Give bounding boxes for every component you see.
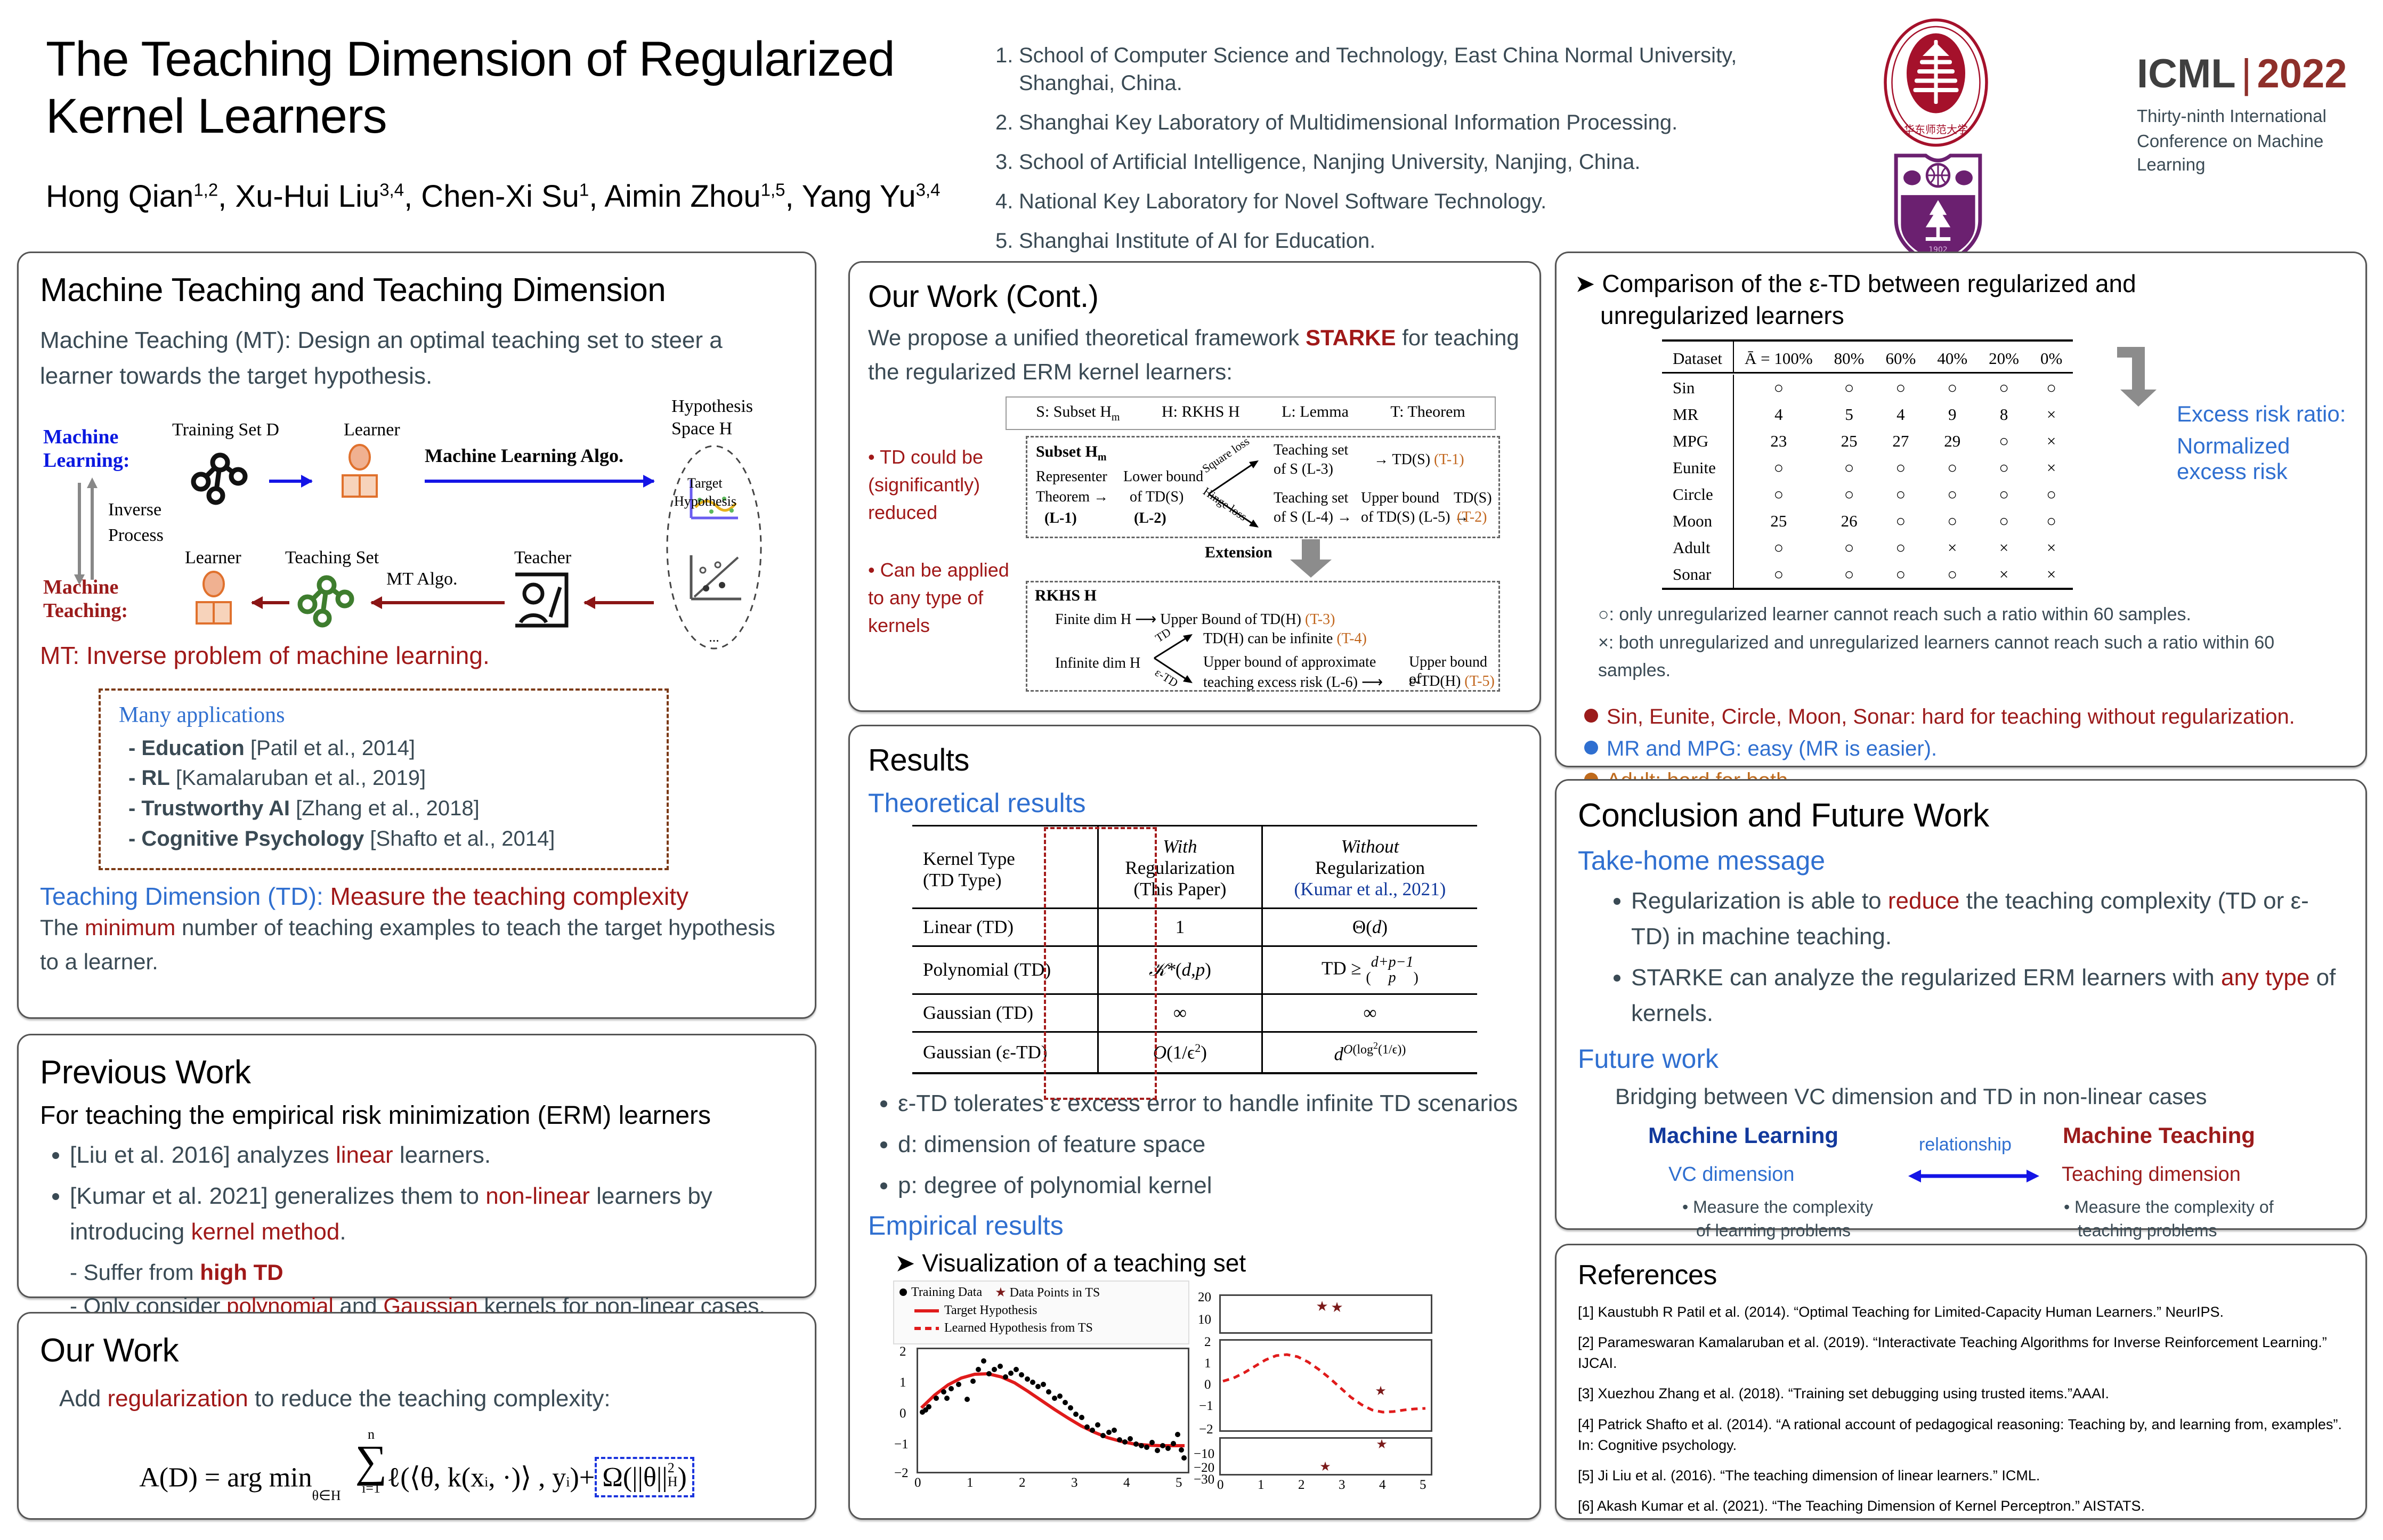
cmp-cell: ○	[1823, 455, 1875, 481]
mid-ytick-0: 0	[1204, 1377, 1211, 1392]
top-ytick-10: 10	[1198, 1312, 1211, 1327]
solid-line-marker-icon	[914, 1309, 939, 1312]
cmp-dataset: Sin	[1662, 375, 1733, 401]
affiliation-item: 4. National Key Laboratory for Novel Sof…	[995, 188, 1827, 215]
td-without: dO(log2(1/ϵ))	[1262, 1032, 1477, 1073]
teaching-set-graph-icon	[296, 571, 365, 630]
cmp-cell: 5	[1823, 401, 1875, 428]
affiliation-number: 3.	[995, 148, 1019, 176]
pw-b2a: [Kumar et al. 2021] generalizes them to	[70, 1183, 485, 1209]
td-label: Teaching Dimension (TD):	[40, 882, 323, 910]
rel-vc-dimension: VC dimension	[1668, 1163, 1795, 1186]
theoretical-results-heading: Theoretical results	[868, 788, 1521, 818]
cmp-cell: 8	[1978, 401, 2030, 428]
excess-risk-callout-l1: Excess risk ratio:	[2177, 401, 2346, 427]
cmp-cell: ○	[1733, 455, 1823, 481]
application-item: - RL [Kamalaruban et al., 2019]	[119, 763, 649, 793]
th0-reduce: reduce	[1888, 888, 1960, 914]
formula-reg-sup: 2	[668, 1461, 678, 1475]
affiliation-item: 3. School of Artificial Intelligence, Na…	[995, 148, 1827, 176]
th-kernel-type: Kernel Type (TD Type)	[912, 826, 1098, 909]
chart-main-plot	[917, 1348, 1189, 1473]
td-with: O(1/ϵ2)	[1098, 1032, 1262, 1073]
cmp-th-20: 20%	[1978, 341, 2030, 373]
cmp-cell: ○	[1875, 481, 1927, 508]
application-item: - Cognitive Psychology [Shafto et al., 2…	[119, 824, 649, 854]
cmp-cell: ×	[2030, 561, 2073, 589]
chart-top-strip: ★ ★	[1219, 1294, 1432, 1334]
circle-marker-icon	[899, 1288, 907, 1296]
application-name: - Trustworthy AI	[128, 797, 290, 820]
main-ytick-0: 0	[899, 1406, 906, 1421]
east-china-normal-university-seal-icon: 华东师范大学	[1869, 16, 2003, 149]
takehome-bullet: STARKE can analyze the regularized ERM l…	[1631, 960, 2344, 1032]
formula-loss-a: ℓ(⟨θ, k(x	[387, 1462, 484, 1493]
cmp-th-0: 0%	[2030, 341, 2073, 373]
cmp-cell: ○	[1875, 561, 1927, 589]
diagram-ml-label-1: Machine	[43, 425, 118, 449]
th-with-l3: (This Paper)	[1109, 879, 1251, 900]
th1-anytype: any type	[2221, 964, 2309, 991]
mid-ytick-1: 1	[1204, 1356, 1211, 1371]
bot-xtick-3: 3	[1339, 1478, 1345, 1493]
main-ytick-2: 2	[899, 1344, 906, 1359]
bot-xtick-5: 5	[1420, 1478, 1426, 1493]
rel-td-note-1: • Measure the complexity of	[2064, 1197, 2274, 1217]
owc-lead-a: We propose a unified theoretical framewo…	[868, 325, 1306, 350]
svg-text:...: ...	[709, 629, 719, 645]
cmp-cell: ○	[1733, 534, 1823, 561]
starke-lowerbound-3: (L-2)	[1134, 510, 1166, 527]
main-xtick-1: 1	[967, 1476, 974, 1490]
affiliation-text: Shanghai Institute of AI for Education.	[1019, 227, 1827, 255]
bottom-strip-svg: ★ ★	[1221, 1439, 1431, 1474]
main-ytick-m2: −2	[894, 1466, 909, 1481]
diagram-hypothesis-space-1: Hypothesis	[671, 396, 753, 417]
legend-row-3: Learned Hypothesis from TS	[899, 1321, 1183, 1335]
cmp-cell: ○	[1733, 561, 1823, 589]
reference-item: [3] Xuezhou Zhang et al. (2018). “Traini…	[1578, 1383, 2344, 1404]
main-xtick-0: 0	[914, 1476, 921, 1490]
main-ytick-1: 1	[899, 1375, 906, 1390]
chart-middle-strip: ★	[1219, 1339, 1432, 1432]
cmp-cell: ○	[1978, 428, 2030, 455]
comparison-note-cross: ×: both unregularized and unregularized …	[1575, 629, 2347, 685]
legend-s: S: Subset Hm	[1036, 403, 1120, 424]
affiliation-text: School of Artificial Intelligence, Nanji…	[1019, 148, 1827, 176]
middle-strip-svg: ★	[1221, 1341, 1431, 1430]
formula-reg-sub: H	[668, 1475, 678, 1489]
formula-plus: )+	[570, 1462, 595, 1493]
cmp-cell: ×	[2030, 401, 2073, 428]
starke-lowerbound-2: of TD(S)	[1130, 489, 1184, 506]
formula-reg: Ω(||θ||	[602, 1462, 668, 1493]
pw-b2e: .	[339, 1219, 346, 1245]
pw-s1-hightd: high TD	[200, 1260, 283, 1285]
th-with-l1: With	[1109, 836, 1251, 857]
bot-xtick-4: 4	[1379, 1478, 1386, 1493]
affiliation-list: 1. School of Computer Science and Techno…	[995, 42, 1827, 266]
application-ref: [Kamalaruban et al., 2019]	[170, 766, 426, 790]
rel-teaching-dimension: Teaching dimension	[2062, 1163, 2241, 1186]
icml-title: ICML|2022	[2137, 51, 2377, 97]
star-marker-icon: ★	[1331, 1300, 1343, 1315]
cmp-cell: ○	[2030, 375, 2073, 401]
table-row: Polynomial (TD) 𝒦*(d,p) TD ≥ (d+p−1p)	[912, 946, 1477, 994]
panel-title-references: References	[1578, 1259, 2344, 1291]
our-work-formula: A(D) = arg minθ∈H n ∑ i=1 ℓ(⟨θ, k(xi, ·)…	[40, 1428, 793, 1504]
formula-reg-end: )	[677, 1462, 686, 1493]
star-marker-icon: ★	[1316, 1299, 1328, 1314]
th-with-l2: Regularization	[1109, 857, 1251, 879]
pw-b1c: learners.	[393, 1142, 491, 1168]
poster-header: The Teaching Dimension of Regularized Ke…	[0, 0, 2383, 250]
starke-ub-l5-2: of TD(S) (L-5) →	[1361, 509, 1469, 526]
th-kernel-type-l1: Kernel Type	[923, 848, 1087, 870]
bullet-dot-icon	[1584, 741, 1598, 755]
reference-item: [6] Akash Kumar et al. (2021). “The Teac…	[1578, 1496, 2344, 1517]
diagram-teacher-label: Teacher	[514, 548, 571, 568]
cmp-cell: ○	[1733, 375, 1823, 401]
pw-s1a: - Suffer from	[70, 1260, 200, 1285]
empirical-results-heading: Empirical results	[868, 1210, 1521, 1241]
extension-down-arrow-icon	[1289, 539, 1335, 579]
future-work-heading: Future work	[1578, 1043, 2344, 1074]
cmp-cell: ○	[1823, 561, 1875, 589]
starke-ts-l3-2: of S (L-3)	[1274, 461, 1333, 478]
diagram-mt-label-2: Teaching:	[43, 599, 128, 622]
starke-legend-box: S: Subset Hm H: RKHS H L: Lemma T: Theor…	[1006, 396, 1496, 430]
starke-infinite-dim: Infinite dim H	[1055, 655, 1140, 672]
td-measure: Measure the teaching complexity	[323, 882, 688, 910]
cmp-dataset: Eunite	[1662, 455, 1733, 481]
legend-l: L: Lemma	[1282, 403, 1349, 424]
cmp-cell: ○	[1823, 481, 1875, 508]
cmp-cell: ×	[2030, 428, 2073, 455]
cmp-dataset: MPG	[1662, 428, 1733, 455]
application-ref: [Patil et al., 2014]	[245, 736, 415, 760]
td-definition-text: The minimum number of teaching examples …	[40, 911, 793, 979]
legend-target-hypothesis: Target Hypothesis	[944, 1303, 1038, 1318]
starke-ub-l5-1: Upper bound	[1361, 490, 1439, 507]
panel-machine-teaching: Machine Teaching and Teaching Dimension …	[17, 252, 816, 1019]
diagram-hypothesis-space-2: Space H	[671, 419, 732, 439]
cmp-cell: ○	[1978, 375, 2030, 401]
legend-training-data: Training Data	[899, 1285, 982, 1300]
formula-regularizer-box: Ω(||θ||2H)	[595, 1457, 694, 1497]
panel-references: References [1] Kaustubh R Patil et al. (…	[1555, 1244, 2367, 1520]
machine-teaching-intro: Machine Teaching (MT): Design an optimal…	[40, 323, 793, 394]
takeaway-text: MR and MPG: easy (MR is easier).	[1607, 737, 1937, 760]
applications-title: Many applications	[119, 702, 649, 728]
results-note: ε-TD tolerates ε excess error to handle …	[898, 1086, 1521, 1122]
reference-item: [4] Patrick Shafto et al. (2014). “A rat…	[1578, 1414, 2344, 1456]
cmp-cell: ○	[1823, 534, 1875, 561]
ml-mt-diagram: Machine Learning: Machine Teaching: Trai…	[40, 400, 791, 634]
cmp-cell: ○	[2030, 508, 2073, 534]
formula-sum: ∑	[355, 1441, 387, 1482]
td-without: Θ(d)	[1262, 909, 1477, 946]
starke-finite-dim: Finite dim H ⟶ Upper Bound of TD(H) (T-3…	[1055, 610, 1335, 628]
starke-subset-box: Subset Hm Representer Theorem → (L-1) Lo…	[1026, 436, 1500, 538]
affiliation-number: 5.	[995, 227, 1019, 255]
affiliation-text: School of Computer Science and Technolog…	[1019, 42, 1827, 97]
main-xtick-2: 2	[1019, 1476, 1026, 1490]
chart-legend: Training Data ★Data Points in TS Target …	[893, 1280, 1189, 1344]
star-marker-icon: ★	[995, 1286, 1007, 1300]
th-kernel-type-l2: (TD Type)	[923, 870, 1087, 891]
td-kernel: Linear (TD)	[912, 909, 1098, 946]
diagram-inverse-1: Inverse	[108, 500, 161, 520]
starke-subset-header: Subset Hm	[1036, 443, 1107, 464]
panel-previous-work: Previous Work For teaching the empirical…	[17, 1034, 816, 1298]
inverse-process-arrows-icon	[74, 475, 111, 587]
panel-title-previous-work: Previous Work	[40, 1053, 793, 1091]
bot-ytick-m30: −30	[1194, 1472, 1214, 1487]
icml-branding: ICML|2022 Thirty-ninth International Con…	[2137, 51, 2377, 177]
bullet-dot-icon	[1584, 709, 1598, 723]
application-item: - Trustworthy AI [Zhang et al., 2018]	[119, 793, 649, 824]
cmp-cell: ○	[1978, 455, 2030, 481]
diagram-arrow-data-to-learner	[269, 480, 312, 483]
mid-ytick-2: 2	[1204, 1335, 1211, 1350]
cmp-cell: 23	[1733, 428, 1823, 455]
cmp-cell: 25	[1823, 428, 1875, 455]
reference-item: [2] Parameswaran Kamalaruban et al. (201…	[1578, 1332, 2344, 1374]
rel-vc-note-1: • Measure the complexity	[1682, 1197, 1873, 1217]
main-plot-svg	[918, 1349, 1188, 1472]
affiliation-number: 2.	[995, 109, 1019, 136]
rel-mt-title: Machine Teaching	[2063, 1123, 2255, 1148]
empirical-subheading: ➤ Visualization of a teaching set	[895, 1249, 1521, 1277]
cmp-cell: ○	[1926, 455, 1978, 481]
owc-bullet-1: • TD could be (significantly) reduced	[868, 443, 1023, 527]
cmp-th-40: 40%	[1926, 341, 1978, 373]
td-without: ∞	[1262, 994, 1477, 1032]
panel-title-our-work-cont: Our Work (Cont.)	[868, 279, 1521, 314]
icml-year: 2022	[2257, 51, 2347, 96]
chevron-right-icon: ➤	[1575, 270, 1595, 297]
cmp-cell: ○	[1823, 375, 1875, 401]
icml-subtitle-line2: Conference on Machine Learning	[2137, 129, 2377, 177]
panel-title-our-work: Our Work	[40, 1332, 793, 1369]
starke-td-t1: → TD(S) (T-1)	[1374, 451, 1464, 468]
cmp-cell: ×	[2030, 534, 2073, 561]
previous-work-bullet: [Liu et al. 2016] analyzes linear learne…	[70, 1138, 793, 1173]
starke-representer-2: Theorem →	[1036, 489, 1108, 506]
cmp-cell: 27	[1875, 428, 1927, 455]
diagram-learner-bottom-label: Learner	[185, 548, 241, 568]
bot-xtick-0: 0	[1217, 1478, 1224, 1493]
ow-lead-c: to reduce the teaching complexity:	[248, 1385, 611, 1412]
author-list: Hong Qian1,2, Xu-Hui Liu3,4, Chen-Xi Su1…	[46, 179, 1000, 214]
cmp-cell: ○	[1733, 481, 1823, 508]
mid-ytick-m2: −2	[1199, 1422, 1213, 1437]
star-marker-icon: ★	[1375, 1384, 1387, 1398]
application-ref: [Zhang et al., 2018]	[290, 797, 480, 820]
star-marker-icon: ★	[1376, 1439, 1388, 1452]
td-def-minimum: minimum	[85, 915, 175, 940]
starke-lowerbound-1: Lower bound	[1123, 468, 1203, 485]
comparison-heading-l1: Comparison of the ε-TD between regulariz…	[1602, 270, 2136, 297]
affiliation-number: 4.	[995, 188, 1019, 215]
th-without-l1: Without	[1274, 836, 1466, 857]
bot-xtick-2: 2	[1298, 1478, 1305, 1493]
cmp-cell: ○	[1875, 375, 1927, 401]
td-without: TD ≥ (d+p−1p)	[1262, 946, 1477, 994]
rel-td-note-2: teaching problems	[2078, 1221, 2217, 1241]
legend-learned-hypothesis: Learned Hypothesis from TS	[944, 1321, 1093, 1335]
diagram-arrow-ml-algo	[425, 480, 654, 483]
application-name: - RL	[128, 766, 170, 790]
learner-reading-icon	[333, 443, 386, 502]
vc-td-relationship-diagram: Machine Learning relationship Machine Te…	[1578, 1123, 2344, 1261]
starke-rkhs-box: RKHS H Finite dim H ⟶ Upper Bound of TD(…	[1026, 581, 1500, 692]
table-row: Gaussian (TD) ∞ ∞	[912, 994, 1477, 1032]
owc-starke: STARKE	[1306, 325, 1396, 350]
takeaway-item: Sin, Eunite, Circle, Moon, Sonar: hard f…	[1584, 701, 2347, 733]
cmp-cell: 4	[1875, 401, 1927, 428]
results-note: p: degree of polynomial kernel	[898, 1168, 1521, 1204]
bot-ytick-m10: −10	[1194, 1447, 1214, 1462]
ow-lead-regularization: regularization	[108, 1385, 248, 1412]
td-def-a: The	[40, 915, 85, 940]
cmp-cell: 25	[1733, 508, 1823, 534]
teacher-icon	[509, 566, 578, 630]
table-row: Eunite ○○○○○×	[1662, 455, 2073, 481]
starke-ub-risk-1: Upper bound of approximate	[1203, 654, 1376, 671]
th-without-l2: Regularization	[1274, 857, 1466, 879]
previous-work-bullet: [Kumar et al. 2021] generalizes them to …	[70, 1179, 793, 1250]
chart-bottom-strip: ★ ★	[1219, 1437, 1432, 1476]
theoretical-results-table: Kernel Type (TD Type) With Regularizatio…	[912, 825, 1477, 1074]
svg-text:华东师范大学: 华东师范大学	[1904, 123, 1968, 136]
comparison-table: Dataset Ā = 100% 80% 60% 40% 20% 0% Sin …	[1662, 339, 2073, 593]
rel-vc-note-2: of learning problems	[1696, 1221, 1851, 1241]
td-kernel: Polynomial (TD)	[912, 946, 1098, 994]
diagram-ml-label-2: Learning:	[43, 449, 130, 472]
diagram-mt-algo-label: MT Algo.	[386, 569, 458, 589]
previous-work-subitem: - Suffer from high TD	[40, 1255, 793, 1289]
cmp-dataset: MR	[1662, 401, 1733, 428]
cmp-dataset: Moon	[1662, 508, 1733, 534]
cmp-cell: ×	[1978, 534, 2030, 561]
reference-item: [5] Ji Liu et al. (2016). “The teaching …	[1578, 1465, 2344, 1486]
application-ref: [Shafto et al., 2014]	[364, 827, 555, 850]
table-row: MR 45498×	[1662, 401, 2073, 428]
starke-ub-risk-2: teaching excess risk (L-6) ⟶	[1203, 673, 1383, 691]
table-row: Adult ○○○×××	[1662, 534, 2073, 561]
results-note: d: dimension of feature space	[898, 1127, 1521, 1163]
diagram-arrow-hypothesis-to-teacher	[585, 601, 654, 604]
application-name: - Education	[128, 736, 245, 760]
icml-word: ICML	[2137, 51, 2236, 96]
diagram-arrow-mt-algo	[371, 601, 505, 604]
starke-td-infinite: TD(H) can be infinite (T-4)	[1203, 630, 1367, 647]
pw-b2-nonlinear: non-linear	[485, 1183, 590, 1209]
main-ytick-m1: −1	[894, 1437, 909, 1452]
affiliation-item: 2. Shanghai Key Laboratory of Multidimen…	[995, 109, 1827, 136]
cmp-cell: ○	[2030, 481, 2073, 508]
td-with: 𝒦*(d,p)	[1098, 946, 1262, 994]
application-name: - Cognitive Psychology	[128, 827, 364, 850]
td-with: 1	[1098, 909, 1262, 946]
panel-title-machine-teaching: Machine Teaching and Teaching Dimension	[40, 271, 793, 309]
our-work-cont-lead: We propose a unified theoretical framewo…	[868, 321, 1521, 389]
owc-bullet-1-text: TD could be (significantly) reduced	[868, 446, 983, 523]
cmp-cell: ○	[1926, 508, 1978, 534]
formula-argmin-sub: θ∈H	[263, 1488, 341, 1504]
table-row: Linear (TD) 1 Θ(d)	[912, 909, 1477, 946]
starke-representer-3: (L-1)	[1044, 510, 1077, 527]
pw-b2-kernel: kernel method	[191, 1219, 339, 1245]
starke-ts-l4-2: of S (L-4) →	[1274, 509, 1352, 526]
starke-representer-1: Representer	[1036, 468, 1107, 485]
table-row: Sonar ○○○○××	[1662, 561, 2073, 589]
bot-xtick-1: 1	[1258, 1478, 1265, 1493]
td-definition-heading: Teaching Dimension (TD): Measure the tea…	[40, 882, 793, 911]
table-row: Sin ○○○○○○	[1662, 375, 2073, 401]
our-work-lead: Add regularization to reduce the teachin…	[59, 1381, 793, 1417]
td-kernel: Gaussian (TD)	[912, 994, 1098, 1032]
affiliation-item: 1. School of Computer Science and Techno…	[995, 42, 1827, 97]
starke-extension-label: Extension	[1205, 544, 1272, 562]
icml-separator: |	[2236, 51, 2257, 96]
table-row: Gaussian (ε-TD) O(1/ϵ2) dO(log2(1/ϵ))	[912, 1032, 1477, 1073]
owc-bullet-2: • Can be applied to any type of kernels	[868, 556, 1023, 640]
callout-arrow-icon	[2116, 345, 2175, 409]
title-block: The Teaching Dimension of Regularized Ke…	[46, 31, 1000, 214]
panel-our-work: Our Work Add regularization to reduce th…	[17, 1312, 816, 1520]
training-set-graph-icon	[189, 449, 258, 507]
cmp-th-60: 60%	[1875, 341, 1927, 373]
table-header-row: Kernel Type (TD Type) With Regularizatio…	[912, 826, 1477, 909]
cmp-cell: ○	[1926, 375, 1978, 401]
legend-t: T: Theorem	[1390, 403, 1465, 424]
learner-reading-icon	[187, 570, 240, 629]
comparison-heading: ➤ Comparison of the ε-TD between regular…	[1575, 268, 2347, 332]
panel-title-results: Results	[868, 742, 1521, 778]
cmp-dataset: Sonar	[1662, 561, 1733, 589]
comparison-note-circle: ○: only unregularized learner cannot rea…	[1575, 601, 2347, 629]
rel-ml-title: Machine Learning	[1648, 1123, 1838, 1148]
table-row: Circle ○○○○○○	[1662, 481, 2073, 508]
dashed-line-marker-icon	[914, 1327, 939, 1330]
application-item: - Education [Patil et al., 2014]	[119, 733, 649, 764]
mid-ytick-m1: −1	[1199, 1399, 1213, 1414]
panel-comparison: ➤ Comparison of the ε-TD between regular…	[1555, 252, 2367, 767]
main-xtick-4: 4	[1123, 1476, 1130, 1490]
comparison-heading-l2: unregularized learners	[1575, 300, 2347, 332]
empirical-subheading-text: Visualization of a teaching set	[922, 1249, 1246, 1277]
diagram-ml-algo-label: Machine Learning Algo.	[425, 444, 623, 467]
cmp-dataset: Circle	[1662, 481, 1733, 508]
main-xtick-5: 5	[1176, 1476, 1182, 1490]
panel-our-work-cont: Our Work (Cont.) We propose a unified th…	[848, 261, 1541, 712]
cmp-cell: 4	[1733, 401, 1823, 428]
cmp-cell: ○	[1875, 534, 1927, 561]
bidirectional-arrow-icon	[1907, 1165, 2040, 1189]
cmp-cell: ○	[1926, 481, 1978, 508]
starke-td-t2-2: (T-2)	[1457, 509, 1487, 526]
cmp-cell: ○	[1926, 561, 1978, 589]
cmp-cell: ×	[2030, 455, 2073, 481]
th-without-l3: (Kumar et al., 2021)	[1274, 879, 1466, 900]
cmp-header-row: Dataset Ā = 100% 80% 60% 40% 20% 0%	[1662, 341, 2073, 373]
takeaway-text: Sin, Eunite, Circle, Moon, Sonar: hard f…	[1607, 705, 2295, 728]
starke-ub-epstd-2: ε-TD(H) (T-5)	[1409, 673, 1495, 690]
affiliation-number: 1.	[995, 42, 1019, 97]
